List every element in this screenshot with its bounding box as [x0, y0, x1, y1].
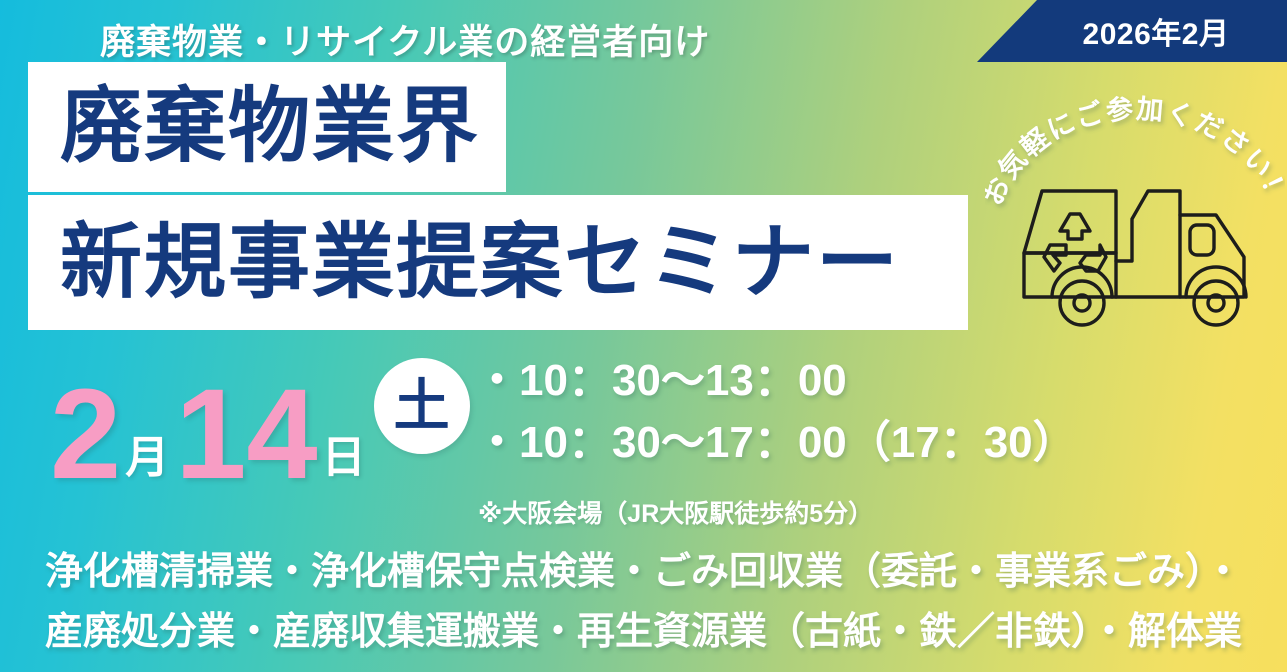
date-badge: 2026年2月 [977, 0, 1287, 62]
session-time-2: ・10：30～17：00（17：30） [475, 412, 1077, 474]
recycle-truck-icon [1020, 185, 1270, 330]
event-date-block: 2 月 14 日 土 [50, 340, 470, 490]
target-industries: 浄化槽清掃業・浄化槽保守点検業・ごみ回収業（委託・事業系ごみ）・ 産廃処分業・産… [0, 543, 1287, 672]
seminar-banner: 廃棄物業・リサイクル業の経営者向け 2026年2月 廃棄物業界 新規事業提案セミ… [0, 0, 1287, 672]
title-plate-line1: 廃棄物業界 [28, 62, 506, 192]
date-month-number: 2 [50, 380, 121, 490]
date-month-unit: 月 [121, 436, 175, 490]
page-title-line2: 新規事業提案セミナー [28, 222, 900, 304]
title-plate-line2: 新規事業提案セミナー [28, 195, 968, 330]
industry-line-2: 産廃処分業・産廃収集運搬業・再生資源業（古紙・鉄／非鉄）・解体業 [0, 603, 1287, 662]
date-day-number: 14 [175, 380, 317, 490]
date-badge-label: 2026年2月 [977, 0, 1287, 62]
venue-note: ※大阪会場（JR大阪駅徒歩約5分） [478, 494, 873, 530]
date-day-unit: 日 [318, 436, 372, 490]
session-times: ・10：30～13：00 ・10：30～17：00（17：30） [475, 350, 1077, 475]
session-time-1: ・10：30～13：00 [475, 350, 1077, 412]
day-of-week-badge: 土 [374, 358, 470, 454]
day-of-week-label: 土 [394, 378, 450, 434]
page-title-line1: 廃棄物業界 [28, 86, 480, 168]
industry-line-1: 浄化槽清掃業・浄化槽保守点検業・ごみ回収業（委託・事業系ごみ）・ [0, 543, 1287, 602]
audience-eyebrow: 廃棄物業・リサイクル業の経営者向け [100, 14, 710, 65]
